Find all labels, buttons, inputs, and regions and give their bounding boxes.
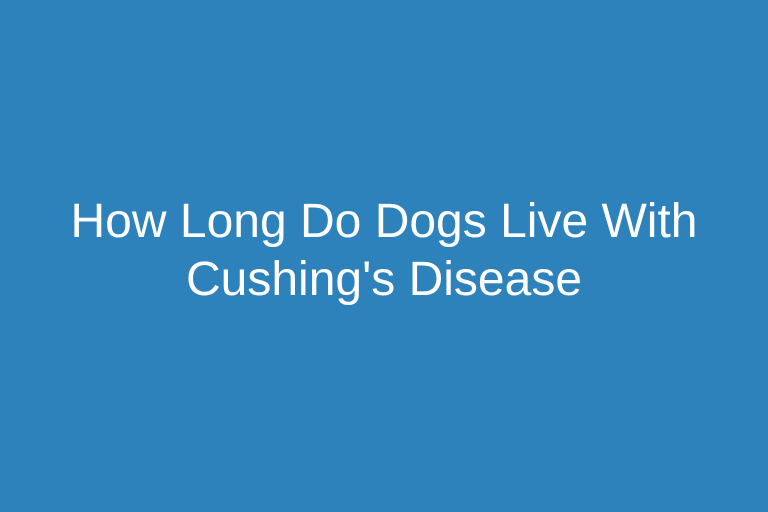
page-title: How Long Do Dogs Live With Cushing's Dis…	[64, 193, 704, 309]
featured-image-banner: How Long Do Dogs Live With Cushing's Dis…	[0, 0, 768, 512]
banner-title-block: How Long Do Dogs Live With Cushing's Dis…	[64, 193, 704, 309]
